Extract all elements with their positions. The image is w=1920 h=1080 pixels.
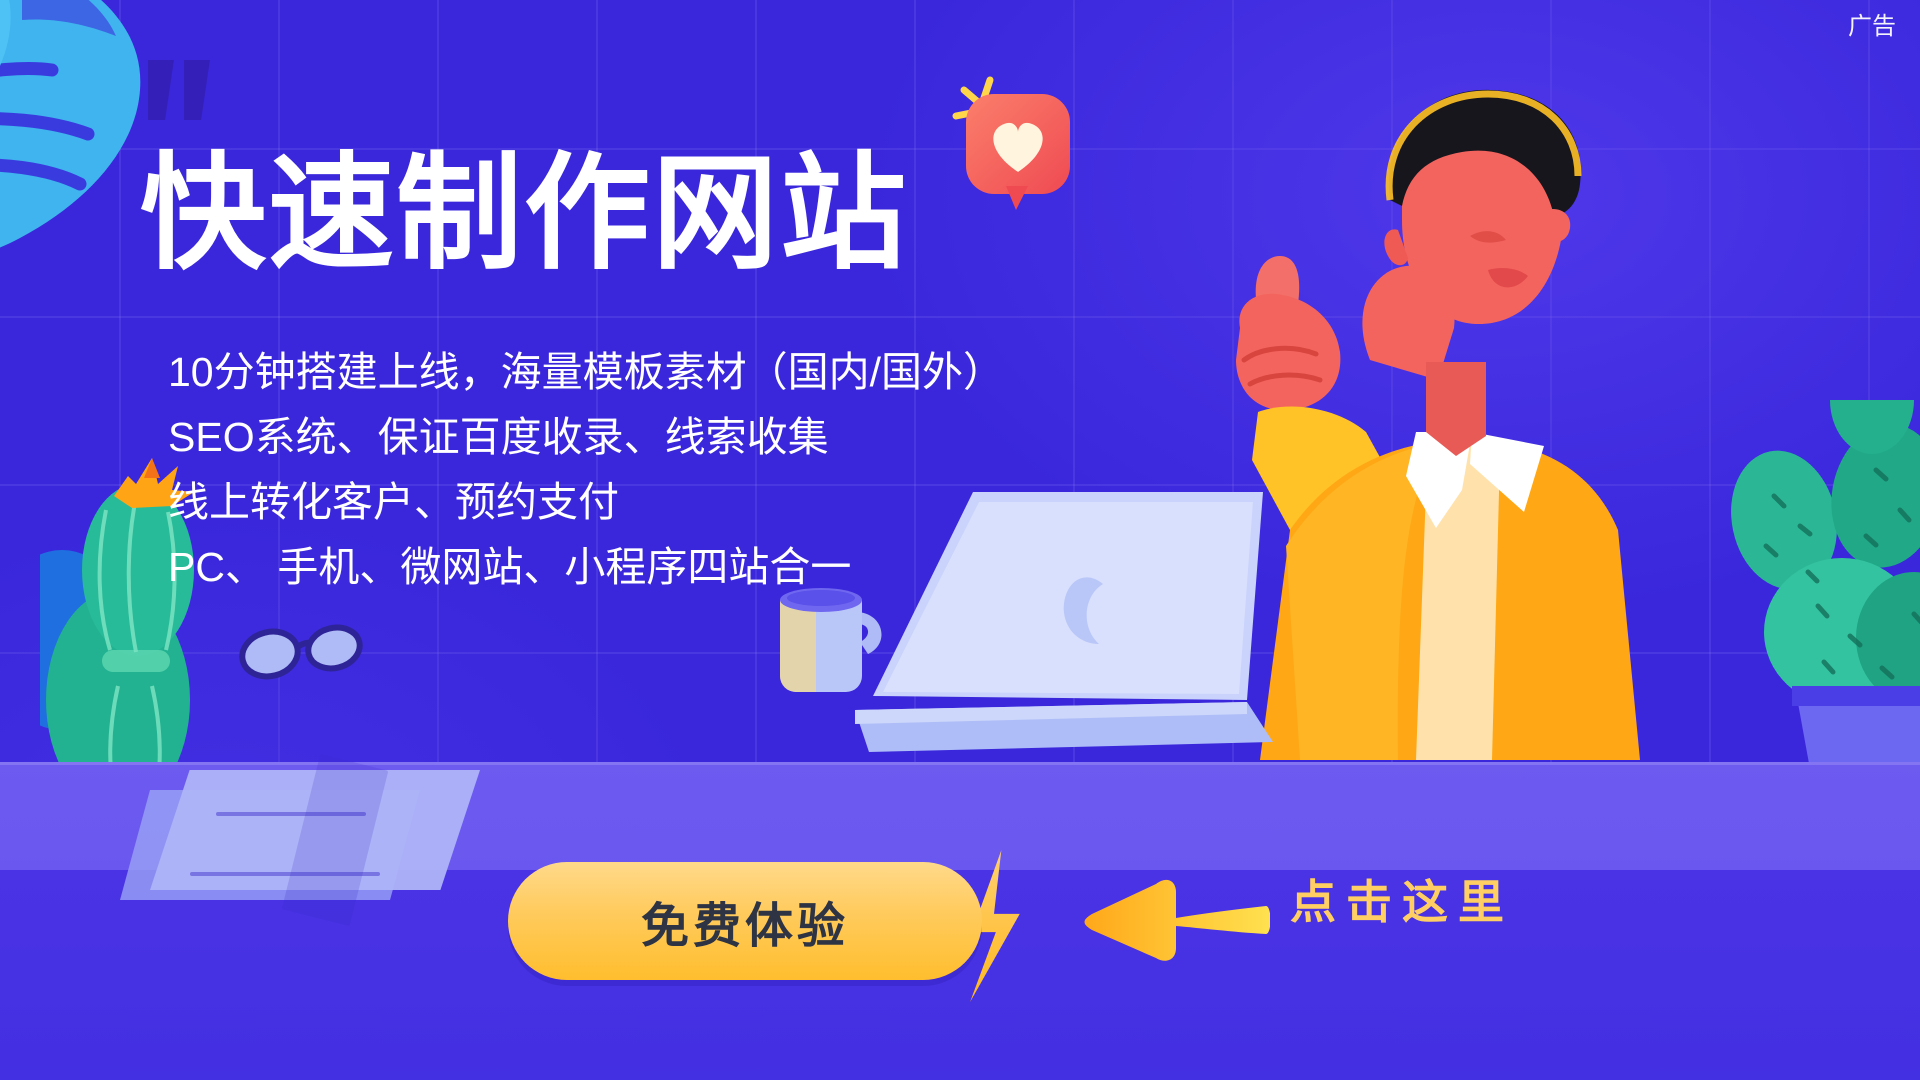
cta-group[interactable]: 免费体验 — [508, 862, 1068, 980]
ad-label: 广告 — [1848, 6, 1896, 41]
click-here-hint: 点击这里 — [1290, 866, 1514, 932]
list-item: 线上转化客户、预约支付 — [168, 470, 1008, 535]
free-trial-button-label: 免费体验 — [508, 862, 982, 980]
list-item: 10分钟搭建上线，海量模板素材（国内/国外） — [168, 340, 1008, 405]
free-trial-button[interactable]: 免费体验 — [508, 862, 982, 980]
ad-banner: 广告 快速制作网站 10分钟搭建上线，海量模板素材（国内/国外） SEO系统、保… — [0, 0, 1920, 1080]
list-item: PC、 手机、微网站、小程序四站合一 — [168, 535, 1008, 600]
heart-like-bubble-icon — [962, 90, 1082, 210]
page-title: 快速制作网站 — [140, 140, 908, 289]
prickly-pear-cactus-icon — [1700, 400, 1920, 780]
quote-mark-icon — [148, 60, 214, 122]
pointing-hand-icon — [1236, 256, 1340, 410]
left-arrow-icon — [1080, 870, 1270, 966]
feature-list: 10分钟搭建上线，海量模板素材（国内/国外） SEO系统、保证百度收录、线索收集… — [168, 340, 1008, 600]
desk-edge — [0, 762, 1920, 765]
eyeglasses-icon — [238, 620, 368, 682]
list-item: SEO系统、保证百度收录、线索收集 — [168, 405, 1008, 470]
